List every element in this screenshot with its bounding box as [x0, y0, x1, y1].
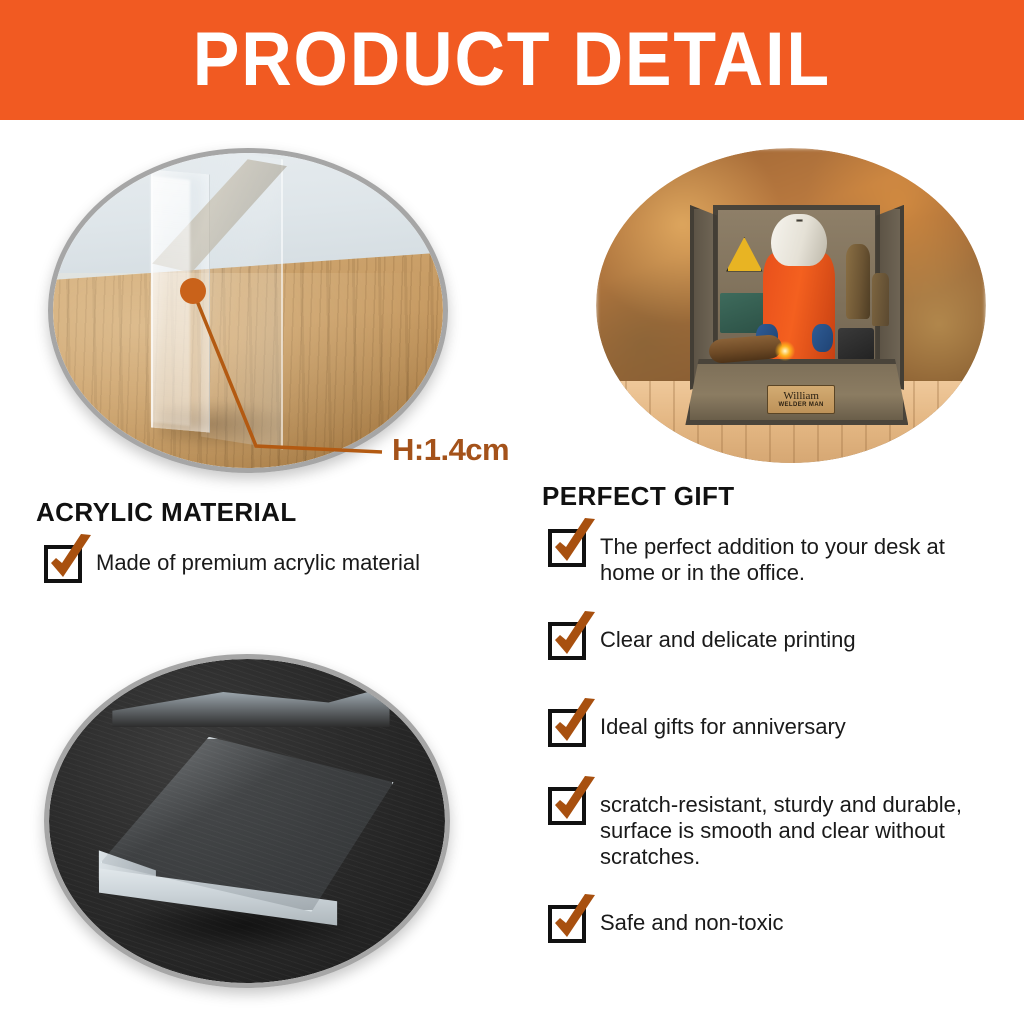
- diorama-nameplate: William WELDER MAN: [767, 385, 836, 414]
- checkmark-path: [555, 698, 595, 741]
- welder-diorama-photo: William WELDER MAN: [596, 148, 986, 463]
- acrylic-edge-photo: [48, 148, 448, 473]
- feature-text: Safe and non-toxic: [600, 905, 783, 936]
- feature-text: Made of premium acrylic material: [96, 545, 420, 576]
- feature-item: Safe and non-toxic: [548, 905, 783, 943]
- feature-text: Ideal gifts for anniversary: [600, 709, 846, 740]
- gas-cylinder-secondary: [872, 273, 889, 326]
- height-callout-label: H:1.4cm: [392, 432, 509, 468]
- feature-item: Made of premium acrylic material: [44, 545, 420, 583]
- checkbox-checked-icon: [548, 622, 586, 660]
- feature-item: Ideal gifts for anniversary: [548, 709, 846, 747]
- checkmark-path: [555, 776, 595, 819]
- checkmark-icon: [549, 517, 601, 567]
- helmet-visor: [796, 219, 803, 222]
- feature-item: scratch-resistant, sturdy and durable, s…: [548, 787, 1000, 870]
- checkmark-icon: [549, 893, 601, 943]
- checkbox-checked-icon: [548, 787, 586, 825]
- acrylic-slab-highlight: [151, 176, 190, 426]
- page-header-banner: PRODUCT DETAIL: [0, 0, 1024, 120]
- page-title: PRODUCT DETAIL: [193, 22, 831, 98]
- checkbox-checked-icon: [548, 905, 586, 943]
- welding-machine: [838, 328, 874, 361]
- welding-helmet: [771, 214, 827, 267]
- checkbox-checked-icon: [44, 545, 82, 583]
- nameplate-role-text: WELDER MAN: [778, 402, 823, 408]
- section-heading-acrylic-material: ACRYLIC MATERIAL: [36, 497, 297, 528]
- checkmark-icon: [549, 697, 601, 747]
- diorama-box: William WELDER MAN: [690, 205, 905, 426]
- checkmark-icon: [549, 610, 601, 660]
- feature-item: The perfect addition to your desk at hom…: [548, 529, 1000, 586]
- section-heading-perfect-gift: PERFECT GIFT: [542, 481, 735, 512]
- checkmark-path: [555, 611, 595, 654]
- gas-cylinder: [846, 244, 870, 319]
- checkmark-path: [555, 518, 595, 561]
- checkmark-icon: [45, 533, 97, 583]
- feature-text: The perfect addition to your desk at hom…: [600, 529, 1000, 586]
- welder-glove-right: [812, 324, 833, 353]
- checkmark-path: [51, 534, 91, 577]
- checkmark-icon: [549, 775, 601, 825]
- feature-text: scratch-resistant, sturdy and durable, s…: [600, 787, 1000, 870]
- checkbox-checked-icon: [548, 709, 586, 747]
- product-detail-page: PRODUCT DETAIL: [0, 0, 1024, 1024]
- welder-diorama-photo-inner: William WELDER MAN: [596, 148, 986, 463]
- acrylic-block-photo-inner: [49, 659, 445, 983]
- checkbox-checked-icon: [548, 529, 586, 567]
- nameplate-name-text: William: [783, 391, 819, 402]
- feature-text: Clear and delicate printing: [600, 622, 856, 653]
- acrylic-block-photo: [44, 654, 450, 988]
- acrylic-edge-photo-inner: [53, 153, 443, 468]
- wood-table-scene: [53, 153, 443, 468]
- welding-spark: [775, 341, 794, 361]
- feature-item: Clear and delicate printing: [548, 622, 856, 660]
- checkmark-path: [555, 894, 595, 937]
